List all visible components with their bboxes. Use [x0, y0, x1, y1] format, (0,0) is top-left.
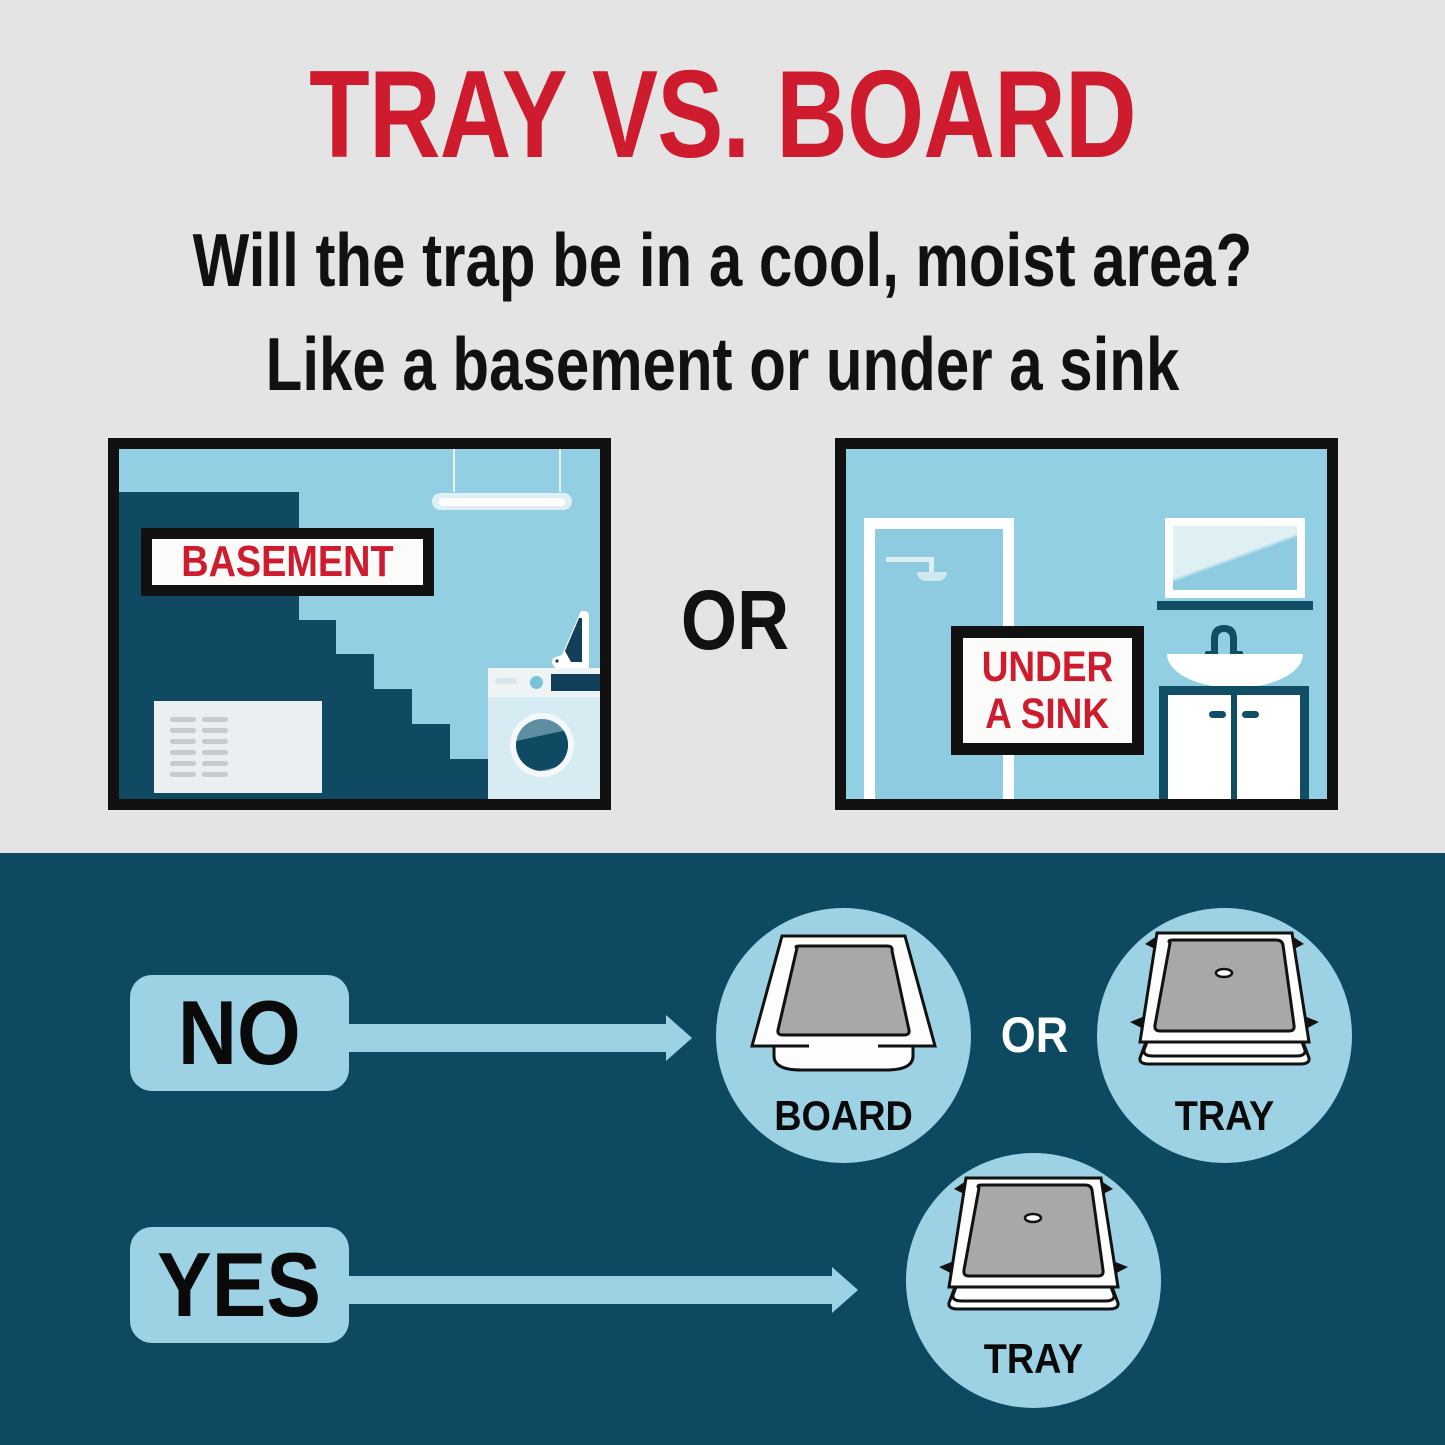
option-board-label: BOARD: [729, 1095, 959, 1137]
notice-lines-col-2: [202, 717, 228, 783]
stair-step: [412, 724, 450, 799]
washer-display: [551, 674, 600, 691]
badge-yes-label: YES: [158, 1240, 322, 1331]
arrow-no: [332, 1015, 692, 1061]
notice-lines-col-1: [170, 717, 196, 783]
sign-basement-label: BASEMENT: [181, 539, 393, 585]
shelf: [1157, 601, 1313, 610]
fluorescent-light-icon: [432, 493, 572, 510]
light-wire-left: [453, 449, 455, 492]
glue-tray-icon: [906, 1175, 1161, 1330]
option-tray-no-label: TRAY: [1110, 1095, 1340, 1137]
vanity-handle-left: [1209, 711, 1226, 718]
washer-control-panel: [488, 668, 600, 697]
option-tray-no[interactable]: TRAY: [1097, 908, 1352, 1163]
badge-no-label: NO: [178, 988, 301, 1079]
vanity-door-left[interactable]: [1168, 695, 1231, 801]
page-title: TRAY VS. BOARD: [145, 53, 1301, 177]
option-board[interactable]: BOARD: [716, 908, 971, 1163]
light-wire-right: [559, 449, 561, 492]
arrow-head-icon: [666, 1015, 692, 1061]
question-section: TRAY VS. BOARD Will the trap be in a coo…: [0, 0, 1445, 853]
glue-board-icon: [716, 930, 971, 1085]
sign-sink-label-1: UNDER: [982, 644, 1113, 691]
notice-board-icon: [154, 701, 322, 793]
mirror-glass: [1173, 526, 1297, 590]
shower-head-icon: [917, 572, 947, 581]
stair-step: [450, 759, 488, 799]
option-tray-yes-label: TRAY: [919, 1338, 1149, 1380]
mirror-icon: [1165, 518, 1305, 598]
sign-under-sink: UNDER A SINK: [951, 626, 1144, 755]
clothes-iron-icon: [548, 611, 592, 673]
washer-drum: [516, 719, 568, 771]
faucet-icon: [1205, 619, 1243, 659]
arrow-head-icon: [832, 1267, 858, 1313]
stair-step: [374, 689, 412, 799]
vanity-handle-right: [1242, 711, 1259, 718]
subtitle-line-1: Will the trap be in a cool, moist area?: [145, 208, 1301, 312]
or-separator-top: OR: [651, 578, 820, 662]
sink-basin-icon: [1167, 654, 1303, 688]
stair-step: [336, 654, 374, 799]
vanity-cabinet-icon: [1159, 686, 1309, 801]
washing-machine-icon: [488, 668, 600, 799]
light-tube-inner: [439, 498, 565, 506]
washer-door: [510, 713, 574, 777]
badge-no[interactable]: NO: [130, 975, 349, 1091]
subtitle-line-2: Like a basement or under a sink: [145, 312, 1301, 416]
washer-slot: [495, 678, 517, 684]
sign-basement: BASEMENT: [141, 528, 434, 596]
option-tray-yes[interactable]: TRAY: [906, 1153, 1161, 1408]
or-separator-bottom: OR: [969, 1010, 1100, 1060]
shower-pipe: [886, 557, 934, 562]
badge-yes[interactable]: YES: [130, 1227, 349, 1343]
scene-basement: [108, 438, 611, 810]
vanity-door-right[interactable]: [1237, 695, 1300, 801]
glue-tray-icon: [1097, 930, 1352, 1085]
sign-sink-label-2: A SINK: [986, 691, 1110, 738]
answer-section: NO BOARD OR: [0, 853, 1445, 1445]
arrow-yes: [332, 1267, 858, 1313]
infographic-poster: TRAY VS. BOARD Will the trap be in a coo…: [0, 0, 1445, 1445]
washer-knob: [530, 676, 543, 689]
page-subtitle: Will the trap be in a cool, moist area? …: [145, 208, 1301, 416]
